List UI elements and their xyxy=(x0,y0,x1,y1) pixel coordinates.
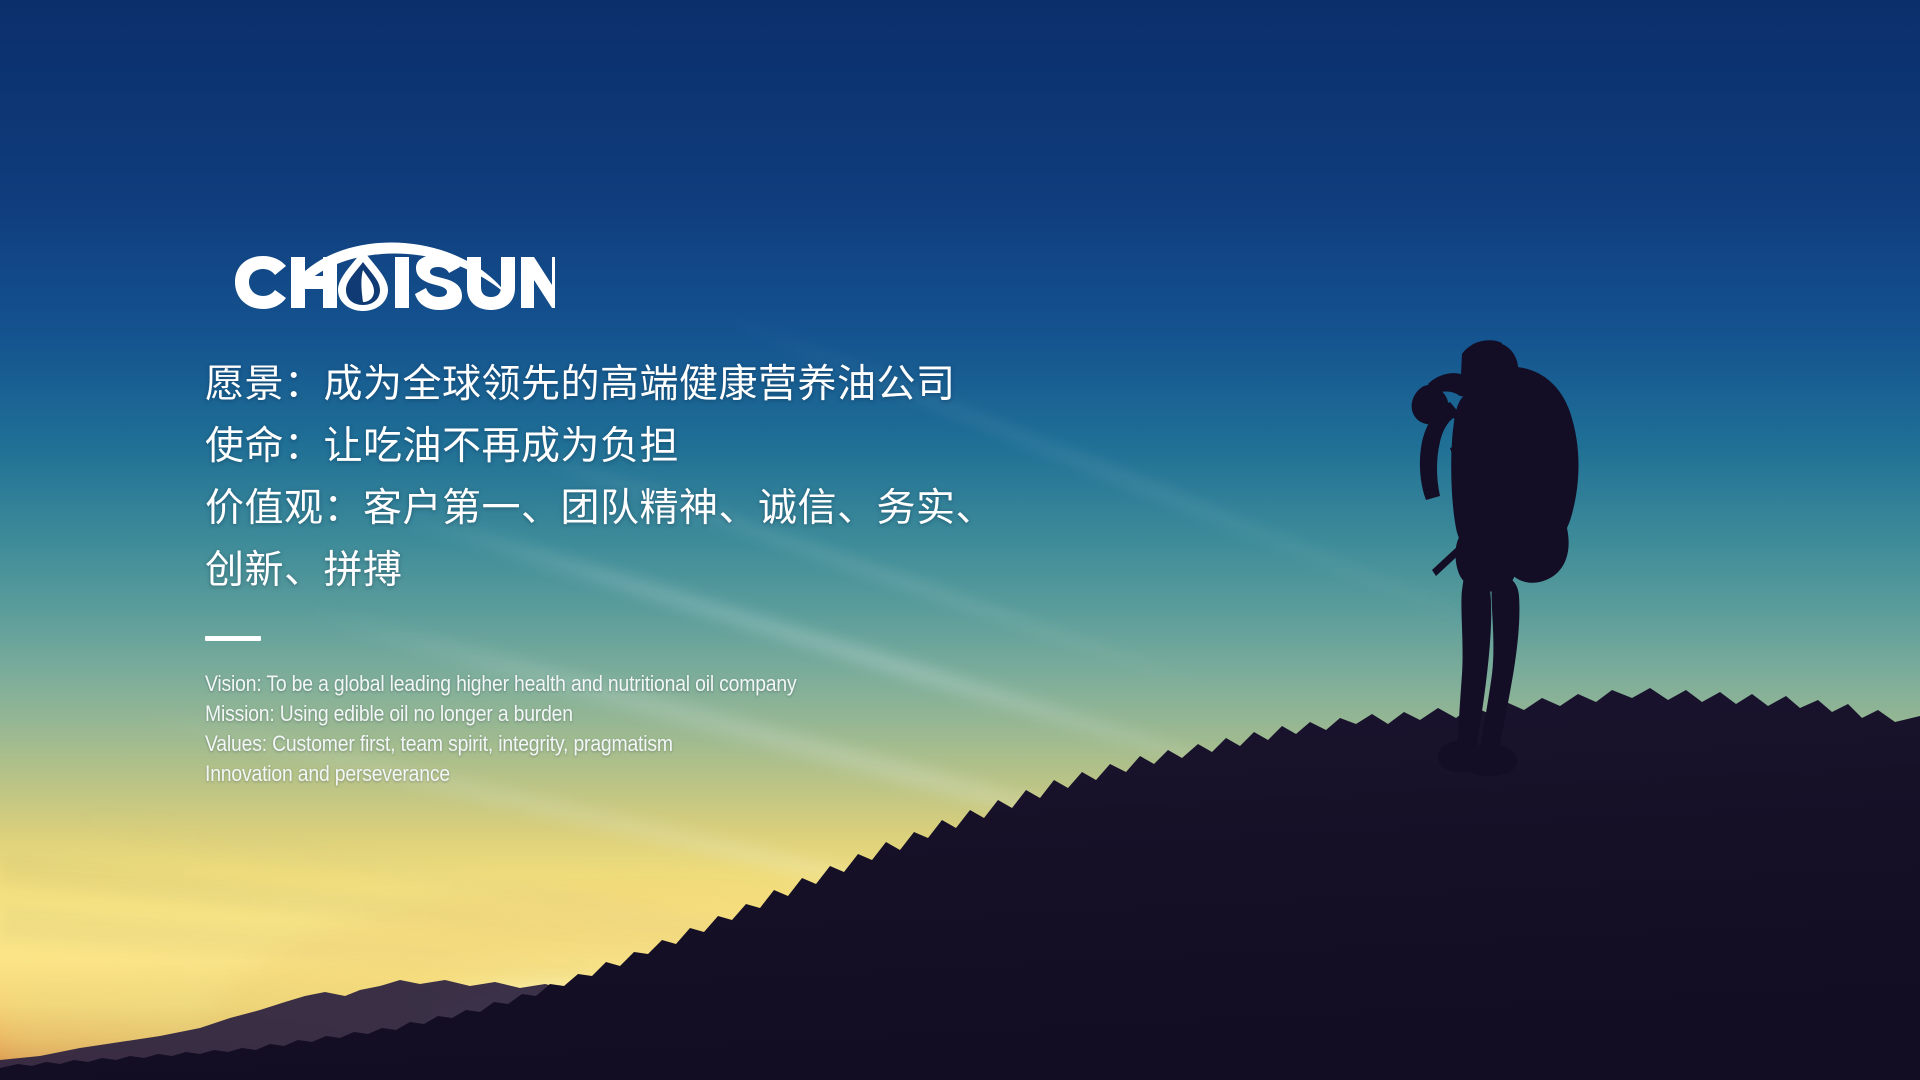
headline-line-vision: 愿景：成为全球领先的高端健康营养油公司 xyxy=(205,354,1105,416)
headline-line-values-cont: 创新、拼搏 xyxy=(205,540,1105,602)
subtext-group: Vision: To be a global leading higher he… xyxy=(205,669,997,789)
logo-artwork: 久晟 xyxy=(205,236,555,328)
headline-line-values: 价值观：客户第一、团队精神、诚信、务实、 xyxy=(205,478,1105,540)
content-block: 久晟 愿景：成为全球领先的高端健康营养油公司 使命：让吃油不再成为负担 价值观：… xyxy=(205,236,1105,789)
brand-logo[interactable]: 久晟 xyxy=(205,236,555,328)
poster-canvas: 久晟 愿景：成为全球领先的高端健康营养油公司 使命：让吃油不再成为负担 价值观：… xyxy=(0,0,1920,1080)
subtext-line-mission: Mission: Using edible oil no longer a bu… xyxy=(205,699,997,729)
subtext-line-values: Values: Customer first, team spirit, int… xyxy=(205,729,997,759)
logo-wordmark-letters xyxy=(235,250,555,311)
divider-rule xyxy=(205,636,261,641)
headline-line-mission: 使命：让吃油不再成为负担 xyxy=(205,416,1105,478)
subtext-line-values-cont: Innovation and perseverance xyxy=(205,759,997,789)
subtext-line-vision: Vision: To be a global leading higher he… xyxy=(205,669,997,699)
hiker-silhouette xyxy=(1380,338,1610,783)
headline-group: 愿景：成为全球领先的高端健康营养油公司 使命：让吃油不再成为负担 价值观：客户第… xyxy=(205,354,1105,602)
